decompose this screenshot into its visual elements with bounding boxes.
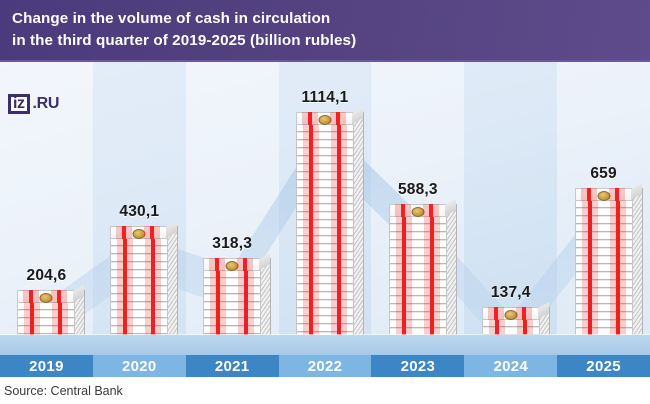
stack-body <box>296 125 354 341</box>
bar-column-2022[interactable]: 1114,1 <box>279 62 372 355</box>
money-stack-2021 <box>203 258 261 341</box>
money-stack-2020 <box>110 226 168 341</box>
source-note: Source: Central Bank <box>4 384 123 398</box>
axis-label-2024: 2024 <box>464 355 557 377</box>
stack-body <box>389 217 447 341</box>
strap-icon <box>588 201 592 340</box>
money-stack-2022 <box>296 112 354 341</box>
bar-column-2021[interactable]: 318,3 <box>186 62 279 355</box>
strap-icon <box>151 239 155 340</box>
bar-column-2025[interactable]: 659 <box>557 62 650 355</box>
axis-label-2025: 2025 <box>557 355 650 377</box>
strap-icon <box>430 217 434 340</box>
bar-value-2023: 588,3 <box>371 181 464 199</box>
page-title-line-1: Change in the volume of cash in circulat… <box>12 8 650 30</box>
stack-body <box>575 201 633 341</box>
strap-icon <box>337 125 341 340</box>
strap-icon <box>402 217 406 340</box>
bar-column-2020[interactable]: 430,1 <box>93 62 186 355</box>
page-title-line-2: in the third quarter of 2019-2025 (billi… <box>12 30 650 52</box>
stack-body <box>110 239 168 341</box>
header-banner: Change in the volume of cash in circulat… <box>0 0 650 62</box>
strap-top-icon <box>243 258 247 271</box>
bar-value-2019: 204,6 <box>0 267 93 285</box>
axis-label-2023: 2023 <box>371 355 464 377</box>
strap-top-icon <box>150 226 154 239</box>
strap-top-icon <box>215 258 219 271</box>
strap-icon <box>216 271 220 340</box>
bar-column-2024[interactable]: 137,4 <box>464 62 557 355</box>
strap-top-icon <box>57 290 61 303</box>
stack-body <box>203 271 261 341</box>
bar-value-2020: 430,1 <box>93 203 186 221</box>
axis-label-2019: 2019 <box>0 355 93 377</box>
strap-top-icon <box>429 204 433 217</box>
bar-value-2024: 137,4 <box>464 284 557 302</box>
strap-top-icon <box>308 112 312 125</box>
strap-top-icon <box>122 226 126 239</box>
bar-value-2025: 659 <box>557 165 650 183</box>
axis-label-2022: 2022 <box>279 355 372 377</box>
axis-label-2020: 2020 <box>93 355 186 377</box>
x-axis: 2019 2020 2021 2022 2023 2024 2025 <box>0 355 650 377</box>
strap-top-icon <box>587 188 591 201</box>
infographic-root: Change in the volume of cash in circulat… <box>0 0 650 404</box>
strap-icon <box>616 201 620 340</box>
bar-value-2021: 318,3 <box>186 235 279 253</box>
bar-series: 204,6 <box>0 62 650 355</box>
strap-top-icon <box>494 307 498 320</box>
strap-top-icon <box>615 188 619 201</box>
strap-icon <box>123 239 127 340</box>
strap-icon <box>244 271 248 340</box>
ground-strip <box>0 335 650 355</box>
bar-value-2022: 1114,1 <box>279 89 372 107</box>
money-stack-2025 <box>575 188 633 341</box>
axis-label-2021: 2021 <box>186 355 279 377</box>
strap-top-icon <box>401 204 405 217</box>
strap-top-icon <box>522 307 526 320</box>
strap-icon <box>309 125 313 340</box>
footer: Source: Central Bank <box>0 377 650 404</box>
money-stack-2023 <box>389 204 447 341</box>
strap-top-icon <box>29 290 33 303</box>
bar-column-2023[interactable]: 588,3 <box>371 62 464 355</box>
strap-top-icon <box>336 112 340 125</box>
chart-plot-area: iz .RU 204,6 <box>0 62 650 355</box>
bar-column-2019[interactable]: 204,6 <box>0 62 93 355</box>
